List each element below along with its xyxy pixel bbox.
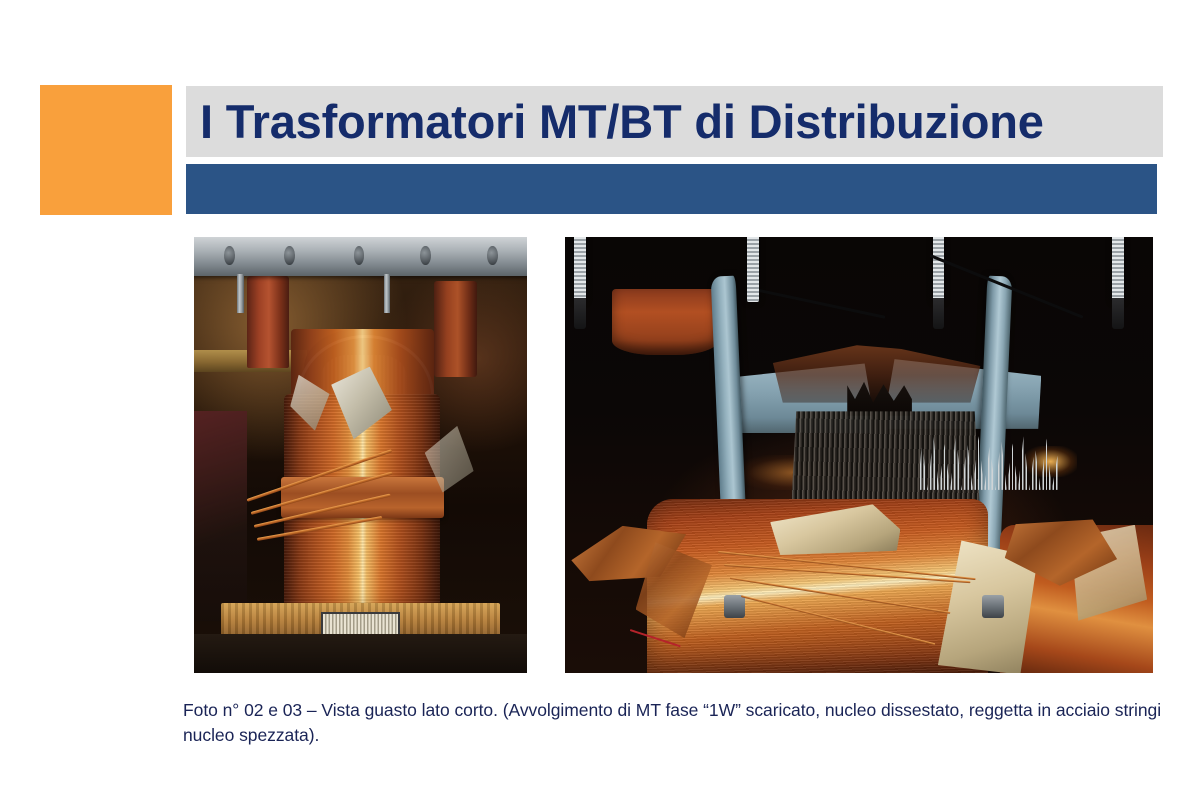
accent-square <box>40 85 172 215</box>
photo-left <box>194 237 527 673</box>
title-band: I Trasformatori MT/BT di Distribuzione <box>186 86 1163 157</box>
insulator-bobbin-right <box>434 281 477 377</box>
threaded-stud-3 <box>933 237 945 302</box>
photo-right-content <box>565 237 1153 673</box>
background-clutter <box>194 411 247 620</box>
floor-shadow <box>194 634 527 673</box>
beam-bolt-hole-1 <box>224 246 235 265</box>
photo-right <box>565 237 1153 673</box>
slide: I Trasformatori MT/BT di Distribuzione <box>0 0 1200 800</box>
beam-bolt-hole-5 <box>487 246 498 265</box>
threaded-stud-1 <box>574 237 586 302</box>
threaded-stud-left <box>237 274 243 313</box>
photo-left-content <box>194 237 527 673</box>
threaded-stud-4 <box>1112 237 1124 302</box>
insulator-bobbin-left <box>247 276 289 368</box>
insulator-drum <box>612 289 718 354</box>
photo-caption: Foto n° 02 e 03 – Vista guasto lato cort… <box>183 698 1173 748</box>
clamp-nut-right <box>982 595 1003 619</box>
stud-tip-cap-1 <box>574 298 586 329</box>
threaded-stud-2 <box>747 237 759 302</box>
title-rule-bar <box>186 164 1157 214</box>
stud-tip-cap-3 <box>1112 298 1124 329</box>
page-title: I Trasformatori MT/BT di Distribuzione <box>186 98 1044 145</box>
beam-bolt-hole-4 <box>420 246 431 265</box>
threaded-stud-right <box>384 274 390 313</box>
stud-tip-cap-2 <box>933 298 945 329</box>
beam-bolt-hole-2 <box>284 246 295 265</box>
clamp-nut-left <box>724 595 745 619</box>
